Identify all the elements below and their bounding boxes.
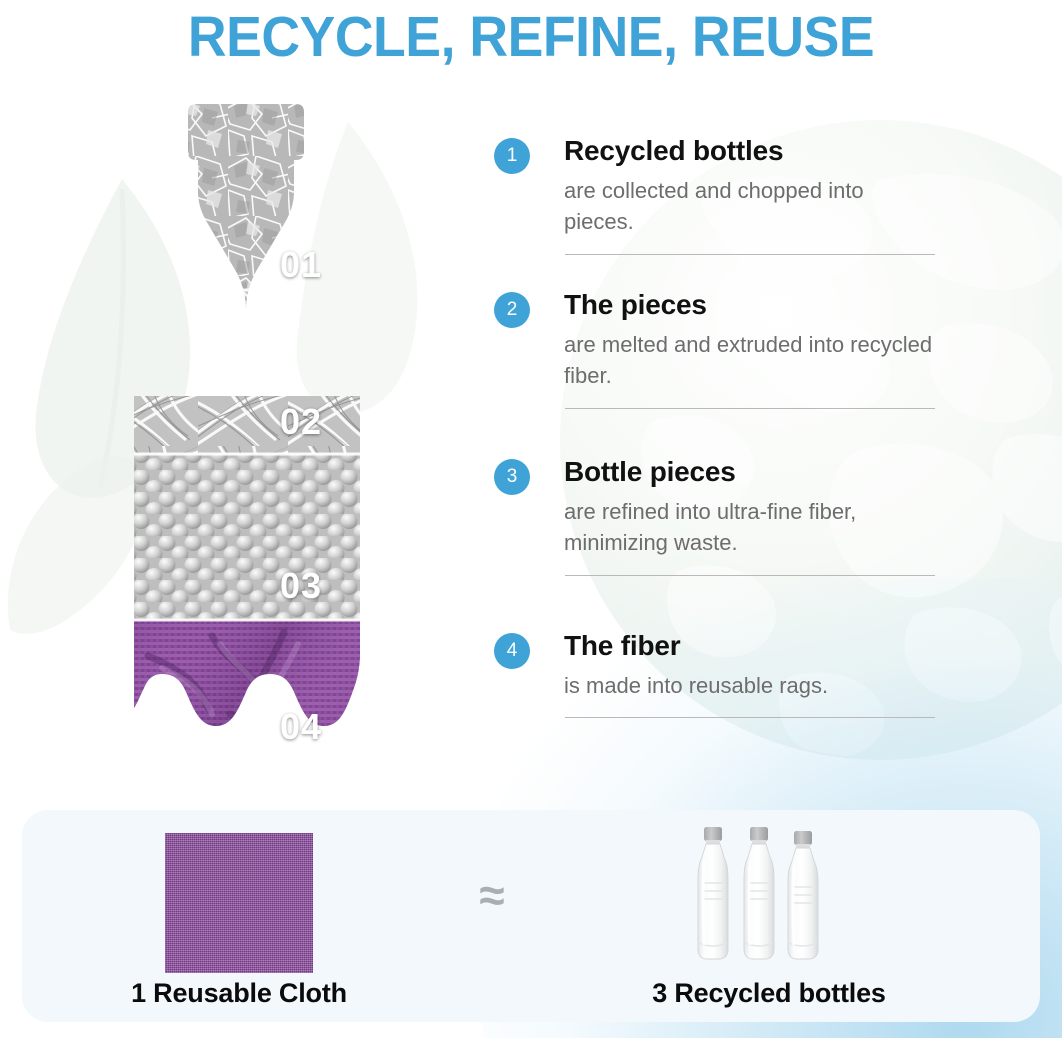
step-badge-3: 3 xyxy=(494,459,530,495)
cloth-caption: 1 Reusable Cloth xyxy=(113,978,365,1009)
three-bottles-icon xyxy=(688,825,838,970)
recycled-bottles-group xyxy=(688,825,838,970)
page-title: RECYCLE, REFINE, REUSE xyxy=(32,4,1030,70)
step-divider-2 xyxy=(565,408,935,409)
step-divider-3 xyxy=(565,575,935,576)
bottle-segment-number-03: 03 xyxy=(280,565,322,607)
bottle-segment-number-04: 04 xyxy=(280,706,322,748)
step-badge-4: 4 xyxy=(494,633,530,669)
bottle-segment-number-02: 02 xyxy=(280,401,322,443)
step-badge-2: 2 xyxy=(494,292,530,328)
infographic-page: RECYCLE, REFINE, REUSE xyxy=(0,0,1062,1038)
step-item-3: 3 Bottle pieces are refined into ultra-f… xyxy=(494,455,934,625)
step-title-3: Bottle pieces xyxy=(564,455,934,488)
cloth-swatch xyxy=(165,833,313,973)
bottle-illustration: 01 02 03 04 xyxy=(108,96,408,796)
approximately-equal-icon: ≈ xyxy=(462,872,522,918)
step-title-1: Recycled bottles xyxy=(564,134,934,167)
step-divider-4 xyxy=(565,717,935,718)
step-divider-1 xyxy=(565,254,935,255)
bottles-caption: 3 Recycled bottles xyxy=(628,978,910,1009)
step-body-3: are refined into ultra-fine fiber, minim… xyxy=(564,496,934,558)
bottle-segment-number-01: 01 xyxy=(280,244,322,286)
step-body-1: are collected and chopped into pieces. xyxy=(564,175,934,237)
step-body-4: is made into reusable rags. xyxy=(564,670,934,701)
step-title-4: The fiber xyxy=(564,629,934,662)
step-body-2: are melted and extruded into recycled fi… xyxy=(564,329,934,391)
step-item-4: 4 The fiber is made into reusable rags. xyxy=(494,629,934,789)
step-title-2: The pieces xyxy=(564,288,934,321)
step-badge-1: 1 xyxy=(494,138,530,174)
bottle-shape-icon xyxy=(108,96,408,796)
steps-list: 1 Recycled bottles are collected and cho… xyxy=(494,134,934,789)
step-item-1: 1 Recycled bottles are collected and cho… xyxy=(494,134,934,284)
step-item-2: 2 The pieces are melted and extruded int… xyxy=(494,288,934,451)
